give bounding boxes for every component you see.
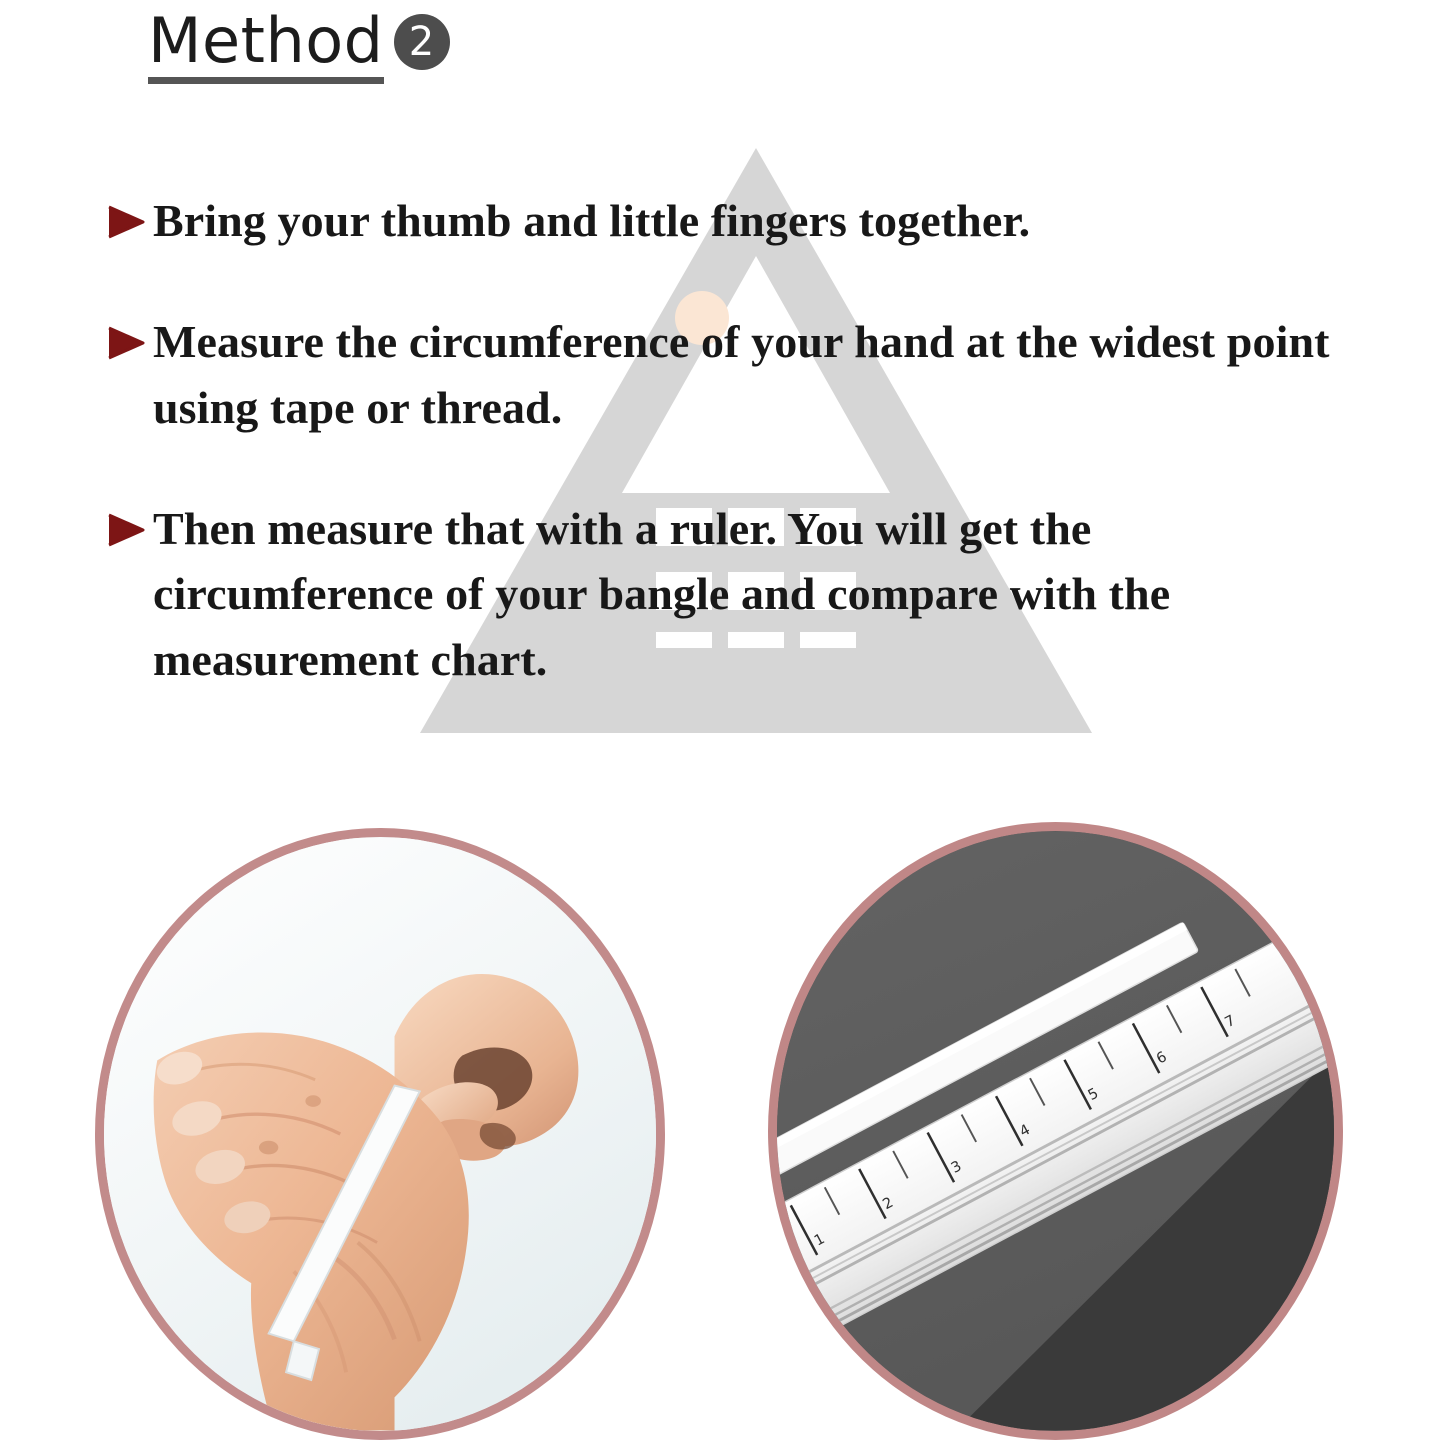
list-item: Measure the circumference of your hand a… xyxy=(105,309,1375,440)
ruler-measure-photo: CM 1 2 3 4 5 6 7 xyxy=(768,822,1343,1440)
size-guide-page: Method 2 Bring your thumb and little fin… xyxy=(0,0,1445,1445)
arrow-bullet-icon xyxy=(105,309,153,361)
hand-measure-photo xyxy=(95,828,665,1440)
list-item: Then measure that with a ruler. You will… xyxy=(105,496,1375,692)
arrow-bullet-icon xyxy=(105,188,153,240)
arrow-bullet-icon xyxy=(105,496,153,548)
method-number-badge: 2 xyxy=(394,14,450,70)
instruction-text: Then measure that with a ruler. You will… xyxy=(153,496,1375,692)
ruler-unit-label: CM xyxy=(777,1247,795,1275)
page-title: Method 2 xyxy=(148,8,450,84)
page-title-text: Method xyxy=(148,8,384,84)
instruction-list: Bring your thumb and little fingers toge… xyxy=(105,188,1375,692)
list-item: Bring your thumb and little fingers toge… xyxy=(105,188,1375,253)
instruction-text: Bring your thumb and little fingers toge… xyxy=(153,188,1375,253)
instruction-text: Measure the circumference of your hand a… xyxy=(153,309,1375,440)
